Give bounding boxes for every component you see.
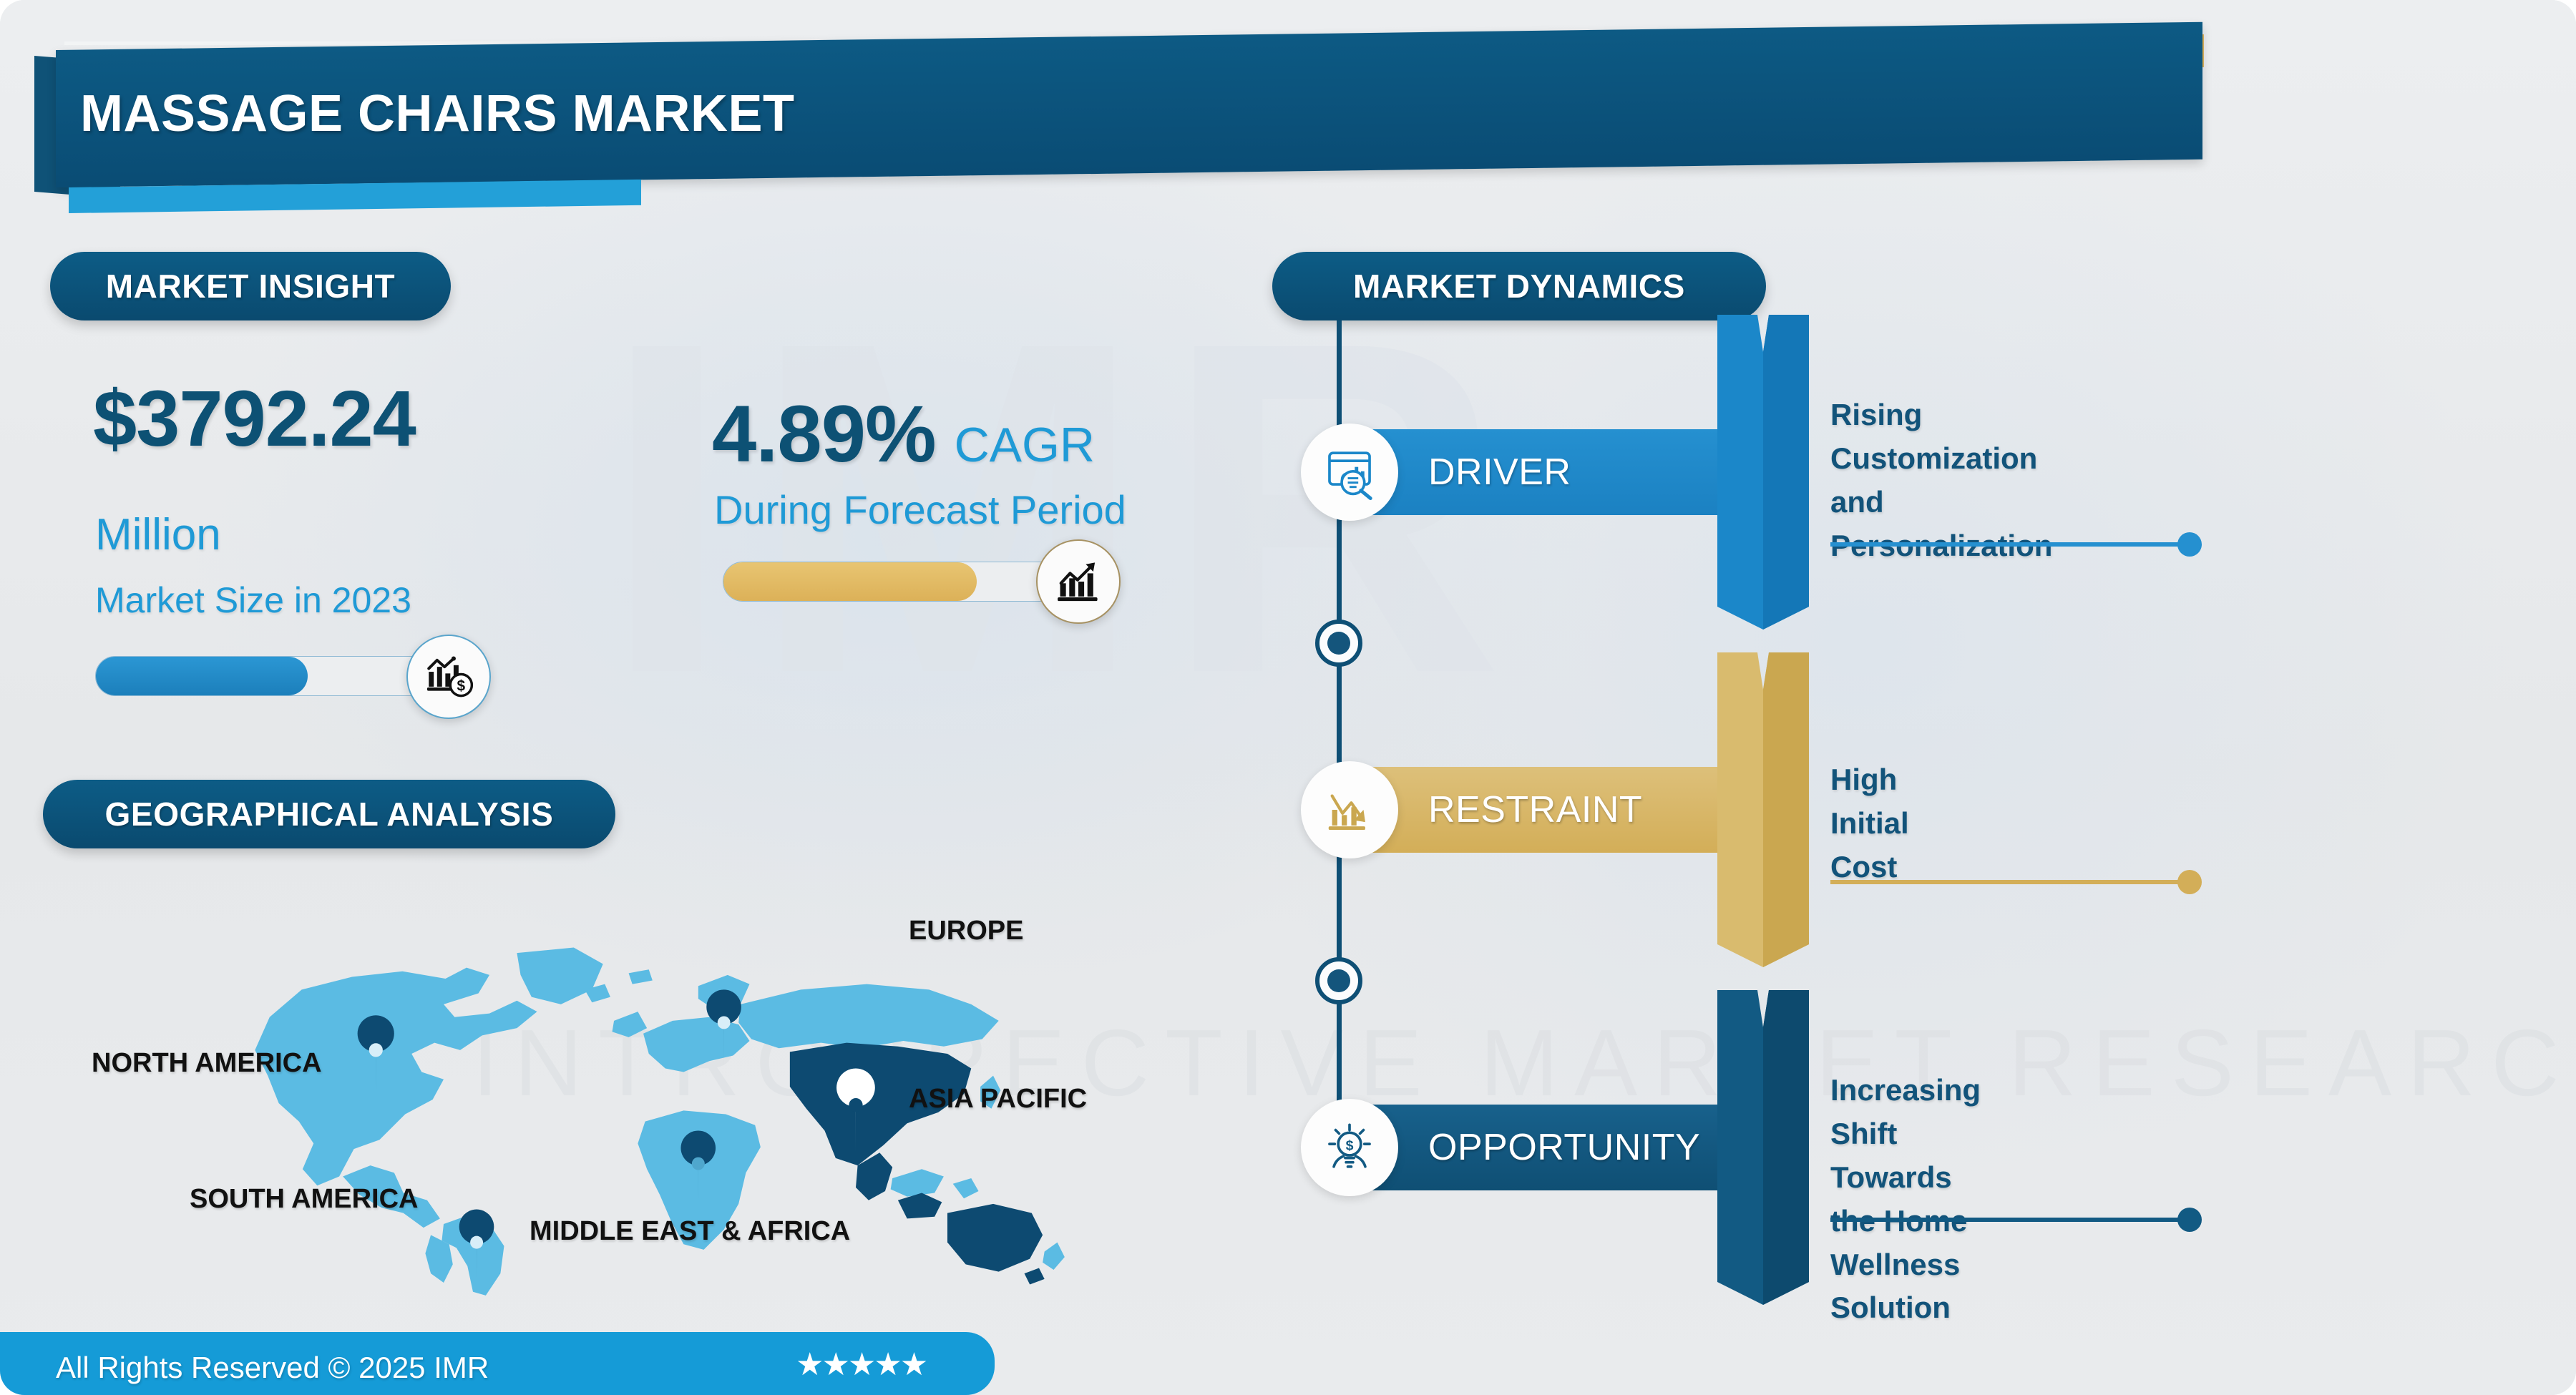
restraint-rule bbox=[1830, 880, 2188, 884]
map-label-asia-pacific: ASIA PACIFIC bbox=[909, 1084, 1087, 1115]
map-label-middle-east-africa: MIDDLE EAST & AFRICA bbox=[530, 1216, 850, 1247]
growth-chart-arrow-icon bbox=[1036, 539, 1121, 624]
opportunity-rule bbox=[1830, 1218, 2188, 1222]
timeline-node-2 bbox=[1315, 957, 1362, 1004]
market-size-unit: Million bbox=[95, 509, 221, 560]
driver-end-dot bbox=[2177, 532, 2202, 557]
svg-text:$: $ bbox=[1346, 1138, 1354, 1154]
opportunity-end-dot bbox=[2177, 1208, 2202, 1232]
cagr-value: 4.89% bbox=[712, 388, 936, 480]
market-size-progress-track bbox=[95, 656, 439, 696]
market-insight-pill: MARKET INSIGHT bbox=[50, 252, 451, 320]
restraint-ribbon-tail bbox=[1717, 652, 1809, 967]
cagr-progress-fill bbox=[723, 562, 977, 601]
restraint-description: High Initial Cost bbox=[1830, 758, 1909, 889]
cagr-headline: 4.89% CAGR bbox=[712, 388, 1095, 480]
geographical-analysis-pill: GEOGRAPHICAL ANALYSIS bbox=[43, 780, 615, 848]
market-size-subtitle: Market Size in 2023 bbox=[95, 579, 411, 621]
page-title: MASSAGE CHAIRS MARKET bbox=[80, 84, 795, 143]
market-size-value: $3792.24 bbox=[93, 373, 416, 464]
map-label-europe: EUROPE bbox=[909, 916, 1023, 946]
infographic-canvas: IMR INTROSPECTIVE MARKET RESEARCH MASSAG… bbox=[0, 0, 2576, 1395]
map-region-asia-pacific-highlight bbox=[790, 1043, 1045, 1285]
footer-star-rating: ★★★★★ bbox=[796, 1346, 926, 1383]
timeline-node-1 bbox=[1315, 620, 1362, 667]
restraint-end-dot bbox=[2177, 870, 2202, 894]
bar-chart-dollar-icon: $ bbox=[406, 635, 491, 719]
cagr-progress-track bbox=[723, 562, 1066, 602]
restraint-label: RESTRAINT bbox=[1428, 788, 1642, 831]
map-label-north-america: NORTH AMERICA bbox=[92, 1048, 322, 1079]
lightbulb-dollar-icon: $ bbox=[1301, 1099, 1398, 1196]
market-size-progress-fill bbox=[96, 657, 308, 695]
svg-text:$: $ bbox=[457, 678, 466, 695]
driver-ribbon-tail bbox=[1717, 315, 1809, 630]
map-label-south-america: SOUTH AMERICA bbox=[190, 1184, 418, 1215]
market-dynamics-pill: MARKET DYNAMICS bbox=[1272, 252, 1766, 320]
cagr-label: CAGR bbox=[955, 417, 1095, 473]
opportunity-label: OPPORTUNITY bbox=[1428, 1126, 1700, 1169]
declining-bar-chart-icon bbox=[1301, 761, 1398, 858]
opportunity-ribbon-tail bbox=[1717, 990, 1809, 1305]
cagr-subtitle: During Forecast Period bbox=[714, 486, 1126, 533]
opportunity-description: Increasing Shift Towards the Home Wellne… bbox=[1830, 1069, 1981, 1330]
driver-rule bbox=[1830, 542, 2188, 547]
footer-copyright: All Rights Reserved © 2025 IMR bbox=[56, 1351, 489, 1385]
driver-label: DRIVER bbox=[1428, 451, 1571, 494]
analytics-report-icon bbox=[1301, 424, 1398, 521]
